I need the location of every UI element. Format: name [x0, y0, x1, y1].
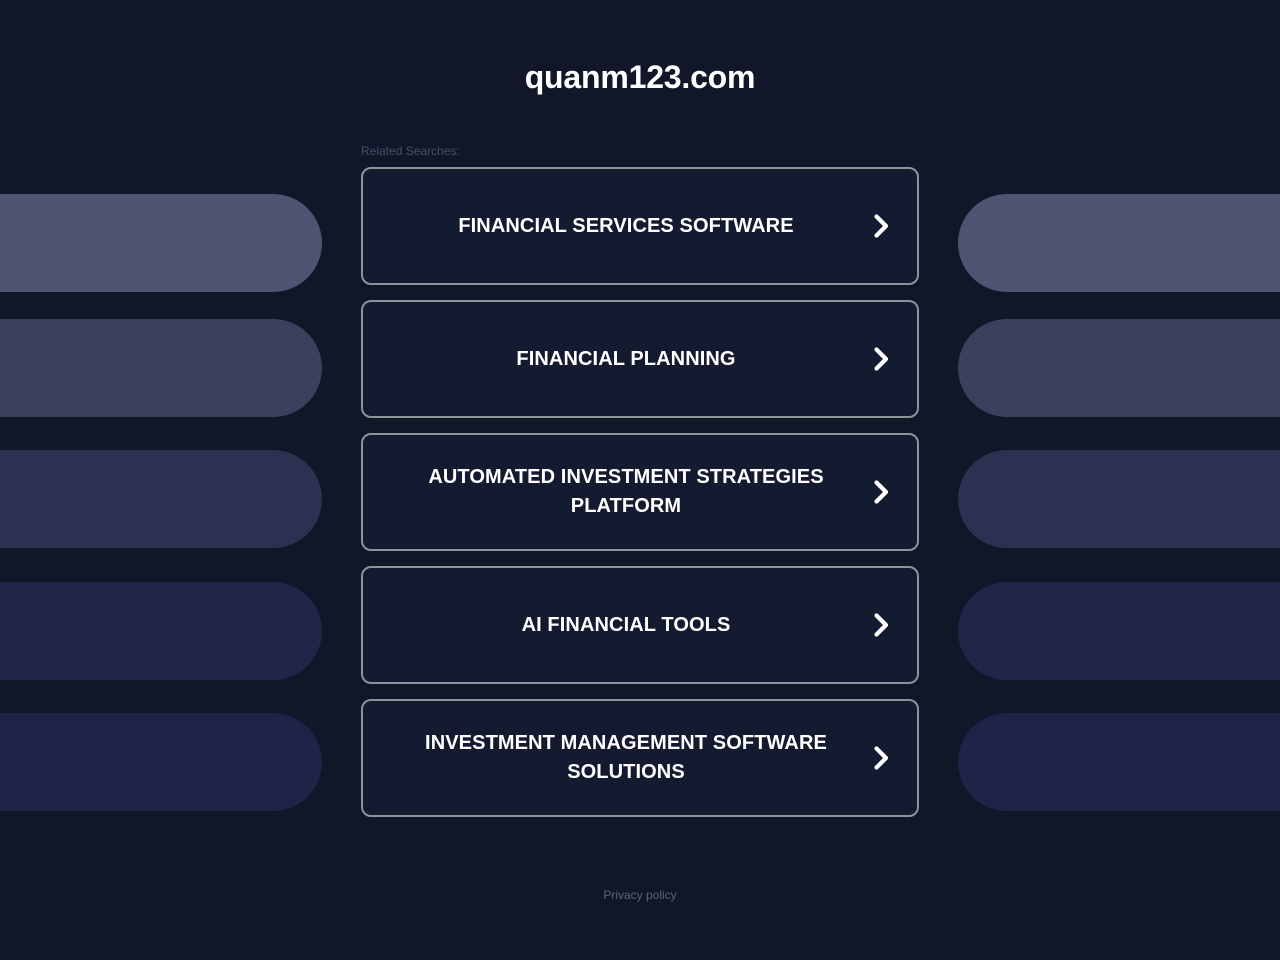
related-search-link-label: AI FINANCIAL TOOLS: [381, 611, 871, 640]
related-search-link-label: AUTOMATED INVESTMENT STRATEGIES PLATFORM: [381, 463, 871, 521]
related-search-link-label: INVESTMENT MANAGEMENT SOFTWARE SOLUTIONS: [381, 729, 871, 787]
related-searches-section: Related Searches: FINANCIAL SERVICES SOF…: [361, 93, 919, 817]
related-searches-label: Related Searches:: [361, 93, 919, 167]
chevron-right-icon: [871, 477, 893, 507]
chevron-right-icon: [871, 610, 893, 640]
related-search-link-4[interactable]: AI FINANCIAL TOOLS: [361, 566, 919, 684]
footer: Privacy policy: [0, 886, 1280, 904]
chevron-right-icon: [871, 344, 893, 374]
chevron-right-icon: [871, 743, 893, 773]
related-searches-list: FINANCIAL SERVICES SOFTWAREFINANCIAL PLA…: [361, 167, 919, 817]
page-title: quanm123.com: [0, 0, 1280, 93]
related-search-link-3[interactable]: AUTOMATED INVESTMENT STRATEGIES PLATFORM: [361, 433, 919, 551]
related-search-link-label: FINANCIAL PLANNING: [381, 345, 871, 374]
chevron-right-icon: [871, 211, 893, 241]
related-search-link-label: FINANCIAL SERVICES SOFTWARE: [381, 212, 871, 241]
related-search-link-1[interactable]: FINANCIAL SERVICES SOFTWARE: [361, 167, 919, 285]
privacy-policy-link[interactable]: Privacy policy: [603, 888, 676, 902]
page-root: quanm123.com Related Searches: FINANCIAL…: [0, 0, 1280, 960]
related-search-link-2[interactable]: FINANCIAL PLANNING: [361, 300, 919, 418]
related-search-link-5[interactable]: INVESTMENT MANAGEMENT SOFTWARE SOLUTIONS: [361, 699, 919, 817]
